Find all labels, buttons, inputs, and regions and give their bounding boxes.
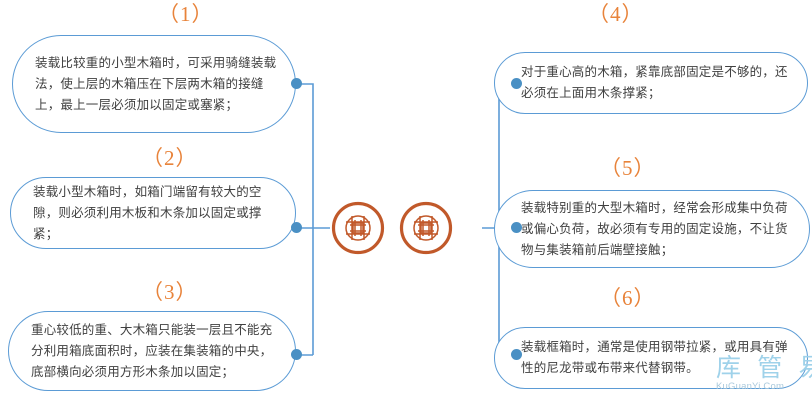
label-number-5: （5）	[600, 158, 656, 179]
label-number-4: （4）	[588, 4, 644, 25]
node-dot-4[interactable]	[511, 78, 522, 89]
node-box-2[interactable]: 装载小型木箱时，如箱门端留有较大的空隙，则必须利用木板和木条加以固定或撑紧；	[10, 177, 296, 249]
node-box-3[interactable]: 重心较低的重、大木箱只能装一层且不能充分利用箱底面积时，应装在集装箱的中央，底部…	[8, 311, 296, 391]
node-dot-2[interactable]	[291, 222, 302, 233]
node-dot-6[interactable]	[511, 349, 522, 360]
label-number-1: （1）	[158, 4, 214, 25]
node-box-3-text: 重心较低的重、大木箱只能装一层且不能充分利用箱底面积时，应装在集装箱的中央，底部…	[9, 320, 295, 383]
label-number-3: （3）	[142, 282, 198, 303]
watermark-brand: 库 管 易	[716, 355, 812, 382]
mindmap-canvas: （1） 装载比较重的小型木箱时，可采用骑缝装载法，使上层的木箱压在下层两木箱的接…	[0, 0, 812, 400]
label-number-2: （2）	[142, 148, 198, 169]
node-dot-3[interactable]	[291, 349, 302, 360]
label-number-6: （6）	[600, 288, 656, 309]
node-box-5[interactable]: 装载特别重的大型木箱时，经常会形成集中负荷或偏心负荷，故必须有专用的固定设施，不…	[494, 190, 810, 268]
watermark-domain: KuGuanYi.Com	[716, 381, 812, 392]
watermark: 库 管 易 KuGuanYi.Com	[716, 355, 812, 399]
node-box-1-text: 装载比较重的小型木箱时，可采用骑缝装载法，使上层的木箱压在下层两木箱的接缝上，最…	[13, 53, 295, 116]
node-dot-5[interactable]	[511, 222, 522, 233]
node-box-4-text: 对于重心高的木箱，紧靠底部固定是不够的，还必须在上面用木条撑紧；	[495, 62, 807, 104]
node-dot-1[interactable]	[291, 78, 302, 89]
node-box-5-text: 装载特别重的大型木箱时，经常会形成集中负荷或偏心负荷，故必须有专用的固定设施，不…	[495, 198, 809, 261]
ornament-medallion-right	[398, 200, 454, 256]
node-box-4[interactable]: 对于重心高的木箱，紧靠底部固定是不够的，还必须在上面用木条撑紧；	[494, 52, 808, 114]
node-box-2-text: 装载小型木箱时，如箱门端留有较大的空隙，则必须利用木板和木条加以固定或撑紧；	[11, 182, 295, 245]
ornament-medallion-left	[330, 200, 386, 256]
node-box-1[interactable]: 装载比较重的小型木箱时，可采用骑缝装载法，使上层的木箱压在下层两木箱的接缝上，最…	[12, 35, 296, 133]
